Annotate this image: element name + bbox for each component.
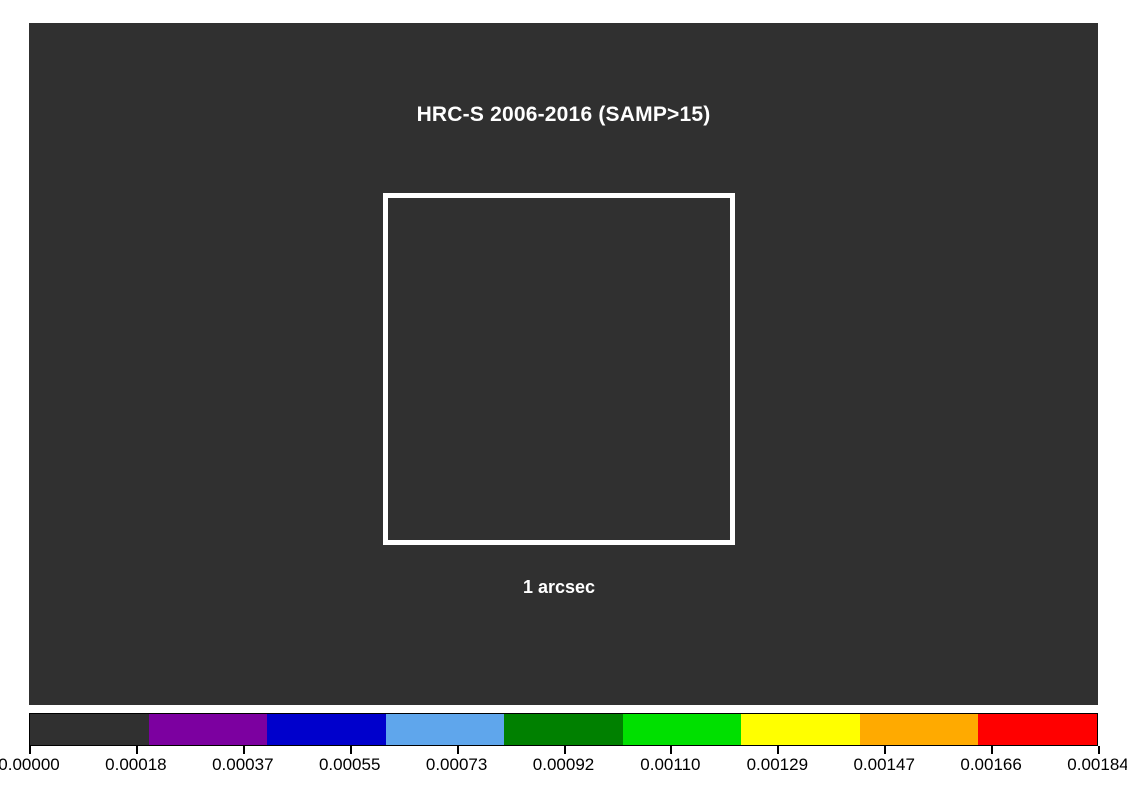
colorbar-tick-2 [243, 746, 245, 754]
colorbar-tick-label-3: 0.00055 [319, 755, 380, 775]
colorbar-tick-9 [991, 746, 993, 754]
colorbar-segment-6 [741, 714, 860, 745]
colorbar-segment-3 [386, 714, 505, 745]
colorbar-tick-label-10: 0.00184 [1067, 755, 1127, 775]
image-panel: HRC-S 2006-2016 (SAMP>15) 1 arcsec [29, 23, 1098, 705]
colorbar-tick-labels: 0.000000.000180.000370.000550.000730.000… [0, 755, 1127, 781]
colorbar-tick-5 [564, 746, 566, 754]
colorbar-segment-7 [860, 714, 979, 745]
colorbar [29, 713, 1098, 746]
colorbar-ticks [29, 746, 1098, 754]
scale-bar-label: 1 arcsec [383, 577, 735, 598]
colorbar-tick-10 [1098, 746, 1100, 754]
colorbar-tick-label-9: 0.00166 [960, 755, 1021, 775]
colorbar-tick-label-5: 0.00092 [533, 755, 594, 775]
colorbar-segment-8 [978, 714, 1097, 745]
colorbar-tick-label-8: 0.00147 [853, 755, 914, 775]
colorbar-segment-4 [504, 714, 623, 745]
colorbar-segment-0 [30, 714, 149, 745]
colorbar-tick-label-4: 0.00073 [426, 755, 487, 775]
colorbar-tick-6 [670, 746, 672, 754]
colorbar-tick-3 [350, 746, 352, 754]
colorbar-segment-1 [149, 714, 268, 745]
figure-root: HRC-S 2006-2016 (SAMP>15) 1 arcsec 0.000… [0, 0, 1127, 800]
colorbar-tick-label-1: 0.00018 [105, 755, 166, 775]
colorbar-tick-label-6: 0.00110 [640, 755, 700, 775]
region-box [383, 193, 735, 545]
colorbar-tick-label-0: 0.00000 [0, 755, 60, 775]
colorbar-gradient [30, 714, 1097, 745]
colorbar-tick-7 [777, 746, 779, 754]
colorbar-tick-8 [884, 746, 886, 754]
page-title: HRC-S 2006-2016 (SAMP>15) [29, 103, 1098, 127]
colorbar-segment-5 [623, 714, 742, 745]
colorbar-tick-4 [457, 746, 459, 754]
colorbar-segment-2 [267, 714, 386, 745]
colorbar-tick-0 [29, 746, 31, 754]
colorbar-tick-label-7: 0.00129 [747, 755, 808, 775]
colorbar-tick-label-2: 0.00037 [212, 755, 273, 775]
colorbar-tick-1 [136, 746, 138, 754]
